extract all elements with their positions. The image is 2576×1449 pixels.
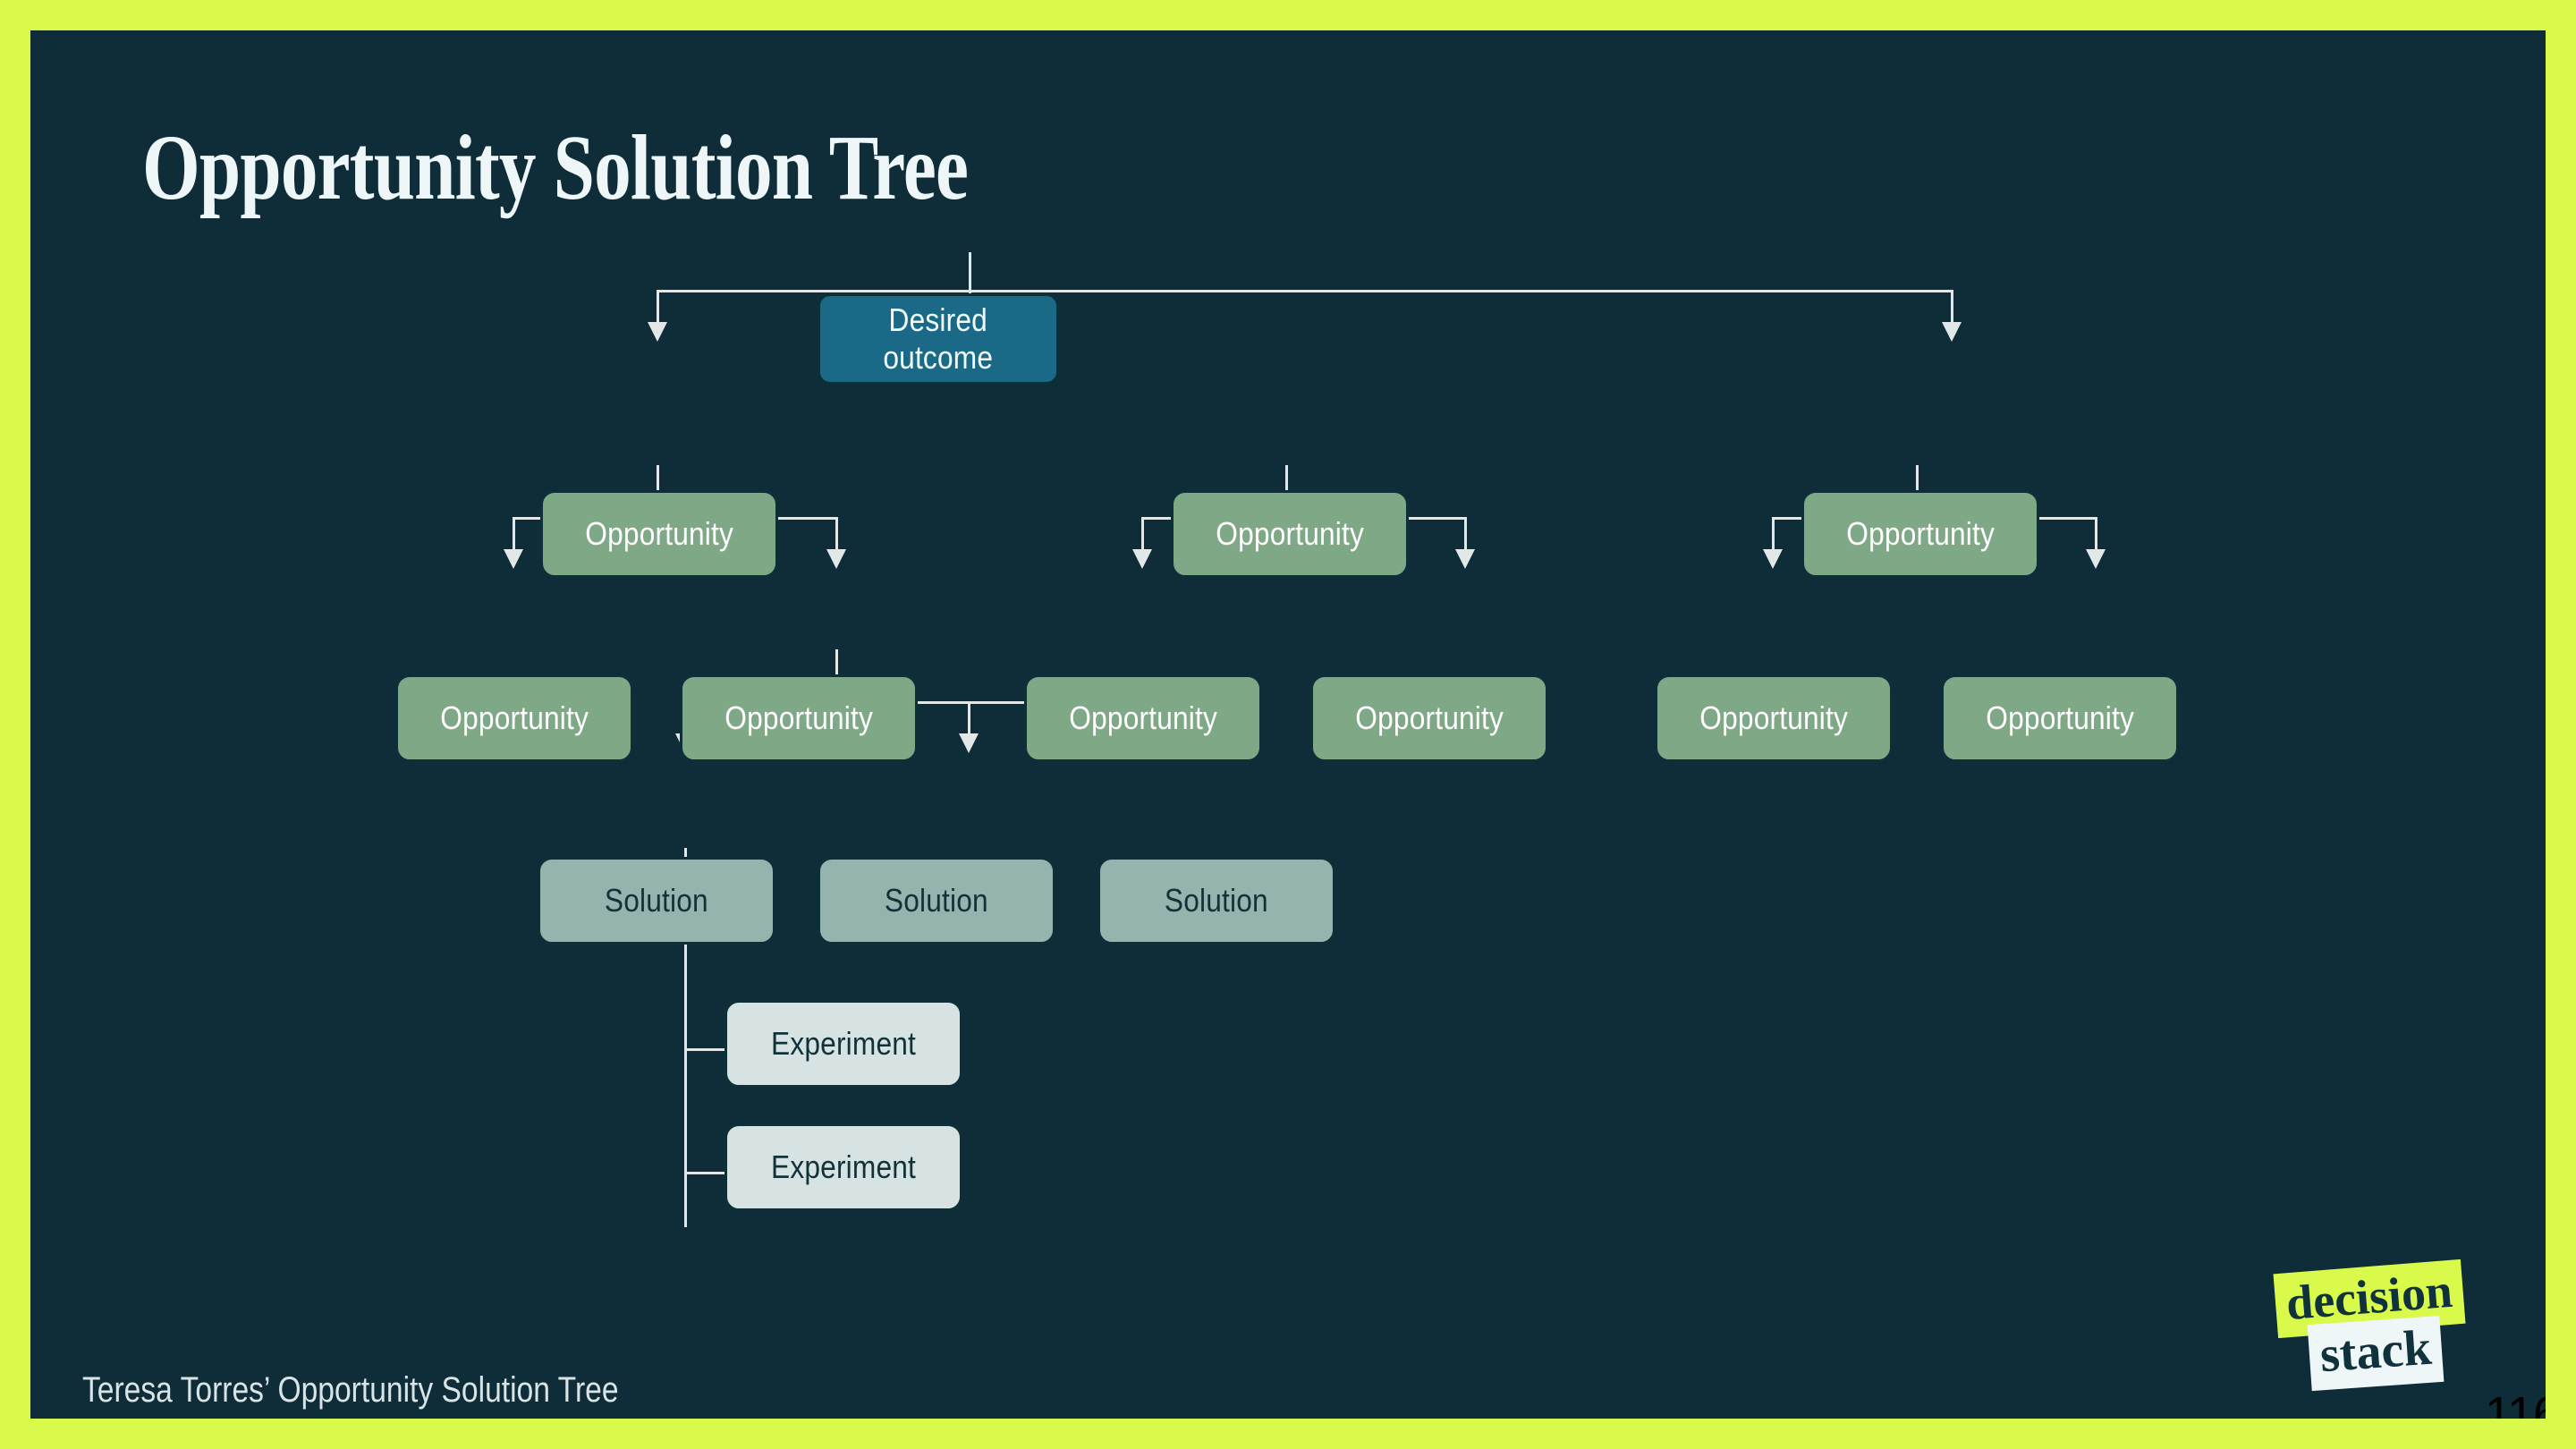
connector-level1-bus (657, 290, 1953, 292)
connector-branch-b-drop-1 (1141, 517, 1144, 551)
arrow-branch-b-2-icon (1455, 549, 1475, 569)
node-solution-1[interactable]: Solution (538, 857, 775, 945)
node-opportunity-l1-2[interactable]: Opportunity (1171, 490, 1409, 578)
decision-stack-logo: decision stack (2275, 1267, 2535, 1401)
node-experiment-1-label: Experiment (771, 1025, 916, 1063)
node-desired-outcome-label: Desired outcome (884, 301, 994, 377)
node-solution-3-label: Solution (1165, 882, 1268, 919)
node-opportunity-l1-3[interactable]: Opportunity (1801, 490, 2039, 578)
arrow-branch-c-1-icon (1763, 549, 1783, 569)
connector-level1-drop-1 (657, 290, 659, 324)
node-opportunity-l2-4[interactable]: Opportunity (1310, 674, 1548, 762)
logo-word-stack: stack (2308, 1316, 2445, 1391)
arrow-branch-a-2-icon (826, 549, 846, 569)
node-opportunity-l2-1[interactable]: Opportunity (395, 674, 633, 762)
page-title: Opportunity Solution Tree (142, 122, 968, 215)
node-experiment-2-label: Experiment (771, 1148, 916, 1186)
node-solution-2[interactable]: Solution (818, 857, 1055, 945)
arrow-branch-b-1-icon (1132, 549, 1152, 569)
node-experiment-2[interactable]: Experiment (724, 1123, 962, 1211)
node-solution-2-label: Solution (885, 882, 988, 919)
node-opportunity-l2-5[interactable]: Opportunity (1655, 674, 1893, 762)
node-opportunity-l2-5-label: Opportunity (1699, 699, 1848, 737)
slide-canvas: Opportunity Solution Tree (30, 30, 2546, 1419)
node-opportunity-l2-4-label: Opportunity (1355, 699, 1504, 737)
node-opportunity-l2-2[interactable]: Opportunity (680, 674, 918, 762)
node-experiment-1[interactable]: Experiment (724, 1000, 962, 1088)
node-opportunity-l1-2-label: Opportunity (1216, 515, 1364, 553)
arrow-branch-a-1-icon (504, 549, 523, 569)
node-solution-1-label: Solution (605, 882, 708, 919)
page-number: 116 (2485, 1386, 2546, 1419)
arrow-level1-1-icon (648, 322, 667, 342)
arrow-branch-c-2-icon (2086, 549, 2106, 569)
node-opportunity-l2-6-label: Opportunity (1986, 699, 2134, 737)
connector-branch-a-drop-2 (835, 517, 838, 551)
arrow-solution-2-icon (959, 733, 979, 753)
node-opportunity-l2-1-label: Opportunity (440, 699, 589, 737)
node-opportunity-l2-2-label: Opportunity (724, 699, 873, 737)
connector-branch-b-drop-2 (1464, 517, 1467, 551)
node-solution-3[interactable]: Solution (1097, 857, 1335, 945)
connector-branch-c-drop-1 (1772, 517, 1775, 551)
connector-branch-c-drop-2 (2095, 517, 2097, 551)
connector-branch-a-drop-1 (513, 517, 515, 551)
node-opportunity-l2-6[interactable]: Opportunity (1941, 674, 2179, 762)
node-opportunity-l1-3-label: Opportunity (1846, 515, 1995, 553)
node-opportunity-l2-3[interactable]: Opportunity (1024, 674, 1262, 762)
slide: Opportunity Solution Tree (0, 0, 2576, 1449)
node-opportunity-l1-1[interactable]: Opportunity (540, 490, 778, 578)
connector-solution-drop-2 (968, 701, 970, 735)
node-desired-outcome[interactable]: Desired outcome (818, 293, 1059, 385)
connector-level1-drop-3 (1951, 290, 1953, 324)
slide-caption: Teresa Torres’ Opportunity Solution Tree (82, 1370, 619, 1411)
connector-root-stem (969, 252, 971, 292)
arrow-level1-3-icon (1942, 322, 1962, 342)
node-opportunity-l1-1-label: Opportunity (585, 515, 733, 553)
node-opportunity-l2-3-label: Opportunity (1069, 699, 1217, 737)
